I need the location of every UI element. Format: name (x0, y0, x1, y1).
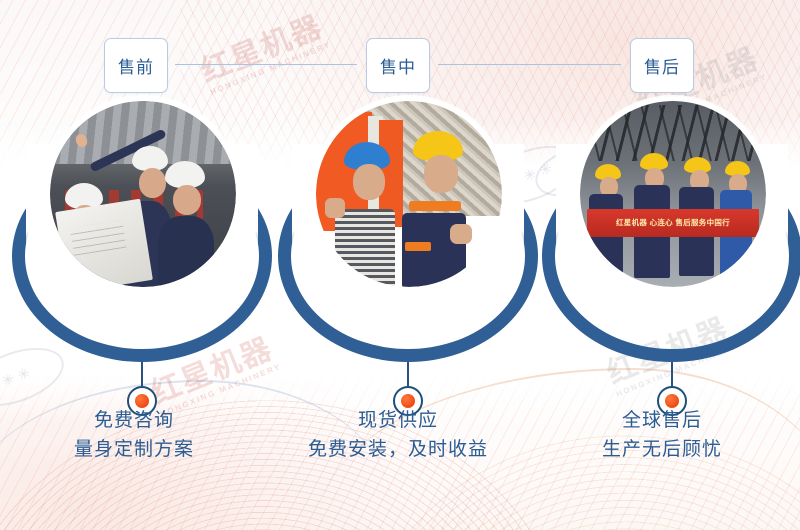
panel-photo-after-sales: 红星机器 心连心 售后服务中国行 (575, 96, 771, 292)
panel-pre-sales (8, 96, 276, 396)
caption-line-1: 现货供应 (358, 410, 438, 431)
caption-line-2: 免费安装，及时收益 (264, 435, 532, 464)
panel-in-sales (274, 96, 542, 396)
step-connector-1 (175, 64, 357, 65)
panel-stem (671, 362, 673, 388)
service-flow-banner: 红星机器 HONGXING MACHINERY 红星机器 HONGXING MA… (0, 0, 800, 530)
caption-after-sales: 全球售后 生产无后顾忧 (528, 406, 796, 464)
photo-banner-text: 红星机器 心连心 售后服务中国行 (616, 217, 730, 228)
panel-stem (141, 362, 143, 388)
photo-banner: 红星机器 心连心 售后服务中国行 (587, 209, 758, 237)
panel-after-sales: 红星机器 心连心 售后服务中国行 (538, 96, 800, 396)
caption-line-2: 生产无后顾忧 (528, 435, 796, 464)
panel-stem (407, 362, 409, 388)
caption-pre-sales: 免费咨询 量身定制方案 (0, 406, 268, 464)
caption-in-sales: 现货供应 免费安装，及时收益 (264, 406, 532, 464)
step-chip-in-sales[interactable]: 售中 (366, 38, 430, 93)
caption-line-1: 全球售后 (622, 410, 702, 431)
panel-photo-in-sales (311, 96, 507, 292)
caption-line-1: 免费咨询 (94, 410, 174, 431)
caption-line-2: 量身定制方案 (0, 435, 268, 464)
step-chip-pre-sales[interactable]: 售前 (104, 38, 168, 93)
step-label-row: 售前 售中 售后 (0, 38, 800, 94)
step-connector-2 (438, 64, 621, 65)
panel-photo-pre-sales (45, 96, 241, 292)
step-chip-after-sales[interactable]: 售后 (630, 38, 694, 93)
